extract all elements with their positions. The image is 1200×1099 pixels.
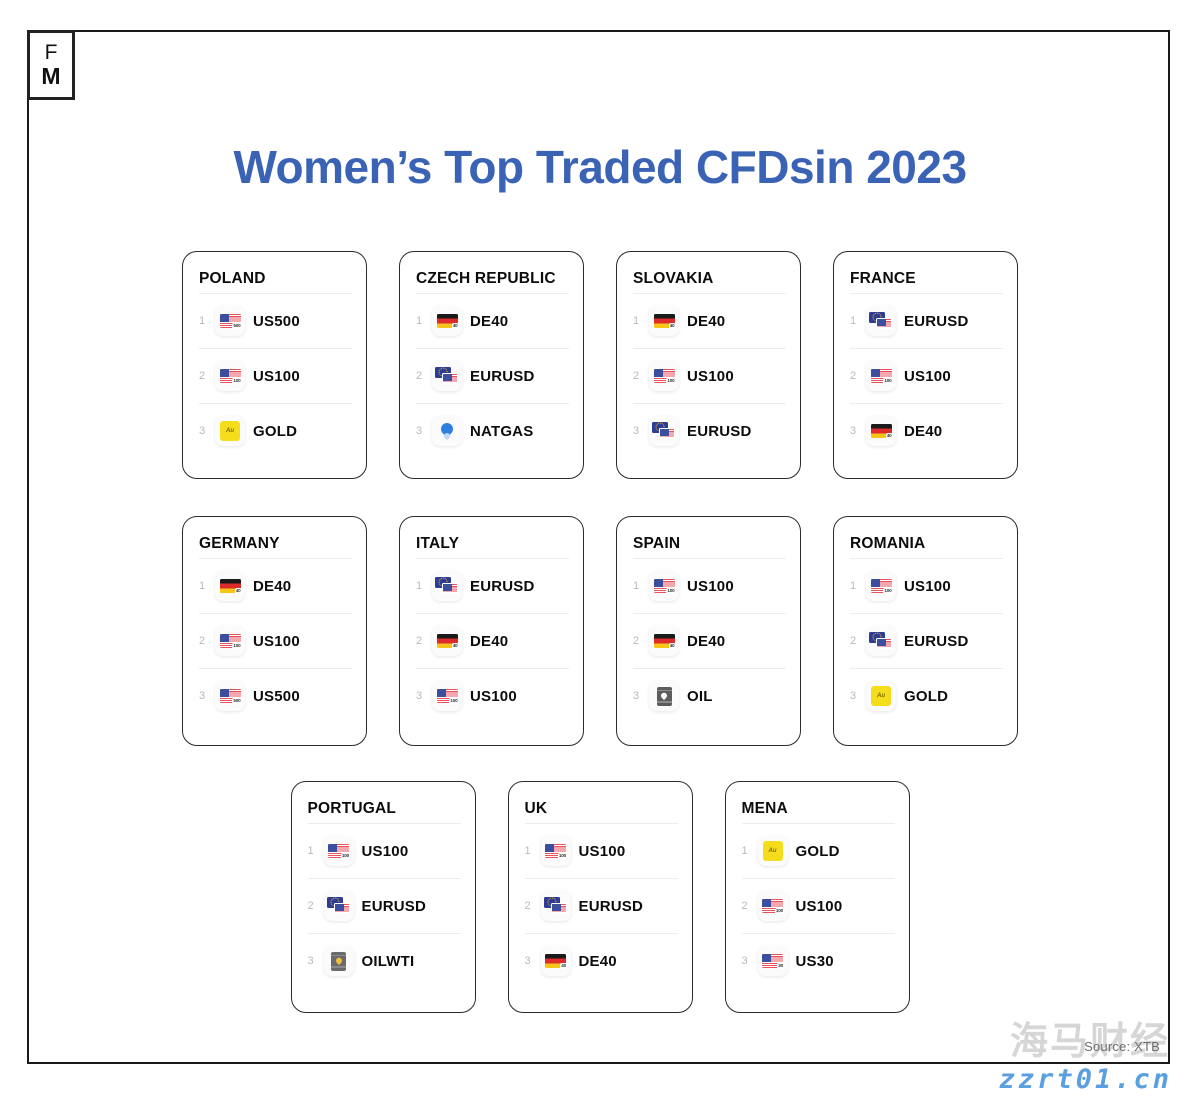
instrument-row[interactable]: 1500US500 — [199, 293, 352, 348]
country-card[interactable]: UK1100US1002EURUSD340DE40 — [508, 781, 693, 1013]
instrument-row[interactable]: 330US30 — [742, 933, 895, 988]
instrument-row[interactable]: 240DE40 — [633, 613, 786, 668]
country-card[interactable]: FRANCE1EURUSD2100US100340DE40 — [833, 251, 1018, 479]
instrument-list: 1100US1002EURUSD340DE40 — [525, 823, 678, 988]
icon-badge: 100 — [341, 853, 350, 859]
instrument-symbol: DE40 — [253, 578, 291, 595]
rank-number: 1 — [633, 315, 649, 327]
instrument-row[interactable]: 3OILWTI — [308, 933, 461, 988]
instrument-list: 1500US5002100US1003AuGOLD — [199, 293, 352, 458]
us-flag-500-icon: 500 — [215, 681, 245, 711]
icon-badge: 100 — [232, 378, 241, 384]
instrument-row[interactable]: 1EURUSD — [850, 293, 1003, 348]
instrument-symbol: DE40 — [470, 313, 508, 330]
rank-number: 1 — [850, 580, 866, 592]
instrument-row[interactable]: 3EURUSD — [633, 403, 786, 458]
card-row-3: PORTUGAL1100US1002EURUSD3OILWTIUK1100US1… — [0, 781, 1200, 1013]
rank-number: 3 — [416, 425, 432, 437]
instrument-symbol: US100 — [253, 368, 300, 385]
instrument-row[interactable]: 340DE40 — [850, 403, 1003, 458]
eur-usd-flags-icon — [866, 306, 896, 336]
logo-letter-f: F — [45, 42, 58, 63]
card-title: ITALY — [416, 535, 569, 553]
icon-badge: 100 — [666, 588, 675, 594]
instrument-list: 1EURUSD240DE403100US100 — [416, 558, 569, 723]
instrument-row[interactable]: 2EURUSD — [525, 878, 678, 933]
card-title: POLAND — [199, 270, 352, 288]
icon-badge: 100 — [883, 588, 892, 594]
rank-number: 2 — [850, 635, 866, 647]
instrument-row[interactable]: 1100US100 — [850, 558, 1003, 613]
rank-number: 3 — [199, 425, 215, 437]
natgas-flame-icon — [432, 416, 462, 446]
de-flag-40-icon: 40 — [541, 946, 571, 976]
instrument-row[interactable]: 1100US100 — [308, 823, 461, 878]
rank-number: 2 — [742, 900, 758, 912]
instrument-row[interactable]: 3100US100 — [416, 668, 569, 723]
instrument-symbol: DE40 — [687, 633, 725, 650]
rank-number: 1 — [199, 315, 215, 327]
us-flag-100-icon: 100 — [324, 836, 354, 866]
gold-au-icon: Au — [758, 836, 788, 866]
instrument-symbol: GOLD — [796, 843, 840, 860]
icon-badge: 100 — [449, 698, 458, 704]
instrument-row[interactable]: 3NATGAS — [416, 403, 569, 458]
us-flag-100-icon: 100 — [541, 836, 571, 866]
de-flag-40-icon: 40 — [432, 626, 462, 656]
instrument-symbol: EURUSD — [904, 313, 969, 330]
instrument-list: 1100US1002EURUSD3OILWTI — [308, 823, 461, 988]
country-card[interactable]: CZECH REPUBLIC140DE402EURUSD3NATGAS — [399, 251, 584, 479]
instrument-list: 1EURUSD2100US100340DE40 — [850, 293, 1003, 458]
icon-badge: 40 — [452, 323, 459, 329]
de-flag-40-icon: 40 — [649, 626, 679, 656]
eur-usd-flags-icon — [541, 891, 571, 921]
us-flag-30-icon: 30 — [758, 946, 788, 976]
instrument-list: 1AuGOLD2100US100330US30 — [742, 823, 895, 988]
rank-number: 2 — [416, 635, 432, 647]
rank-number: 3 — [308, 955, 324, 967]
icon-badge: 500 — [232, 698, 241, 704]
rank-number: 3 — [199, 690, 215, 702]
instrument-row[interactable]: 2100US100 — [742, 878, 895, 933]
rank-number: 1 — [199, 580, 215, 592]
instrument-symbol: US100 — [796, 898, 843, 915]
instrument-symbol: NATGAS — [470, 423, 533, 440]
instrument-symbol: EURUSD — [362, 898, 427, 915]
us-flag-100-icon: 100 — [649, 361, 679, 391]
oil-wti-barrel-icon — [324, 946, 354, 976]
instrument-symbol: DE40 — [904, 423, 942, 440]
oil-barrel-icon — [649, 681, 679, 711]
instrument-symbol: EURUSD — [687, 423, 752, 440]
us-flag-100-icon: 100 — [758, 891, 788, 921]
instrument-symbol: EURUSD — [579, 898, 644, 915]
country-card[interactable]: PORTUGAL1100US1002EURUSD3OILWTI — [291, 781, 476, 1013]
watermark-url: zzrt01.cn — [999, 1064, 1172, 1095]
rank-number: 2 — [633, 635, 649, 647]
fm-logo: F M — [27, 30, 75, 100]
instrument-symbol: US100 — [579, 843, 626, 860]
us-flag-100-icon: 100 — [649, 571, 679, 601]
rank-number: 2 — [199, 635, 215, 647]
icon-badge: 30 — [777, 963, 784, 969]
instrument-row[interactable]: 2EURUSD — [416, 348, 569, 403]
instrument-row[interactable]: 140DE40 — [416, 293, 569, 348]
instrument-row[interactable]: 2EURUSD — [850, 613, 1003, 668]
rank-number: 3 — [525, 955, 541, 967]
eur-usd-flags-icon — [649, 416, 679, 446]
instrument-list: 140DE402100US1003EURUSD — [633, 293, 786, 458]
instrument-list: 140DE402EURUSD3NATGAS — [416, 293, 569, 458]
us-flag-500-icon: 500 — [215, 306, 245, 336]
card-title: MENA — [742, 800, 895, 818]
instrument-symbol: US30 — [796, 953, 834, 970]
country-card[interactable]: ITALY1EURUSD240DE403100US100 — [399, 516, 584, 746]
watermark-chinese: 海马财经 — [1010, 1010, 1170, 1065]
gold-symbol-au: Au — [763, 841, 783, 861]
country-card[interactable]: SLOVAKIA140DE402100US1003EURUSD — [616, 251, 801, 479]
rank-number: 1 — [742, 845, 758, 857]
country-card[interactable]: SPAIN1100US100240DE403OIL — [616, 516, 801, 746]
rank-number: 3 — [633, 425, 649, 437]
rank-number: 3 — [850, 690, 866, 702]
instrument-row[interactable]: 1100US100 — [633, 558, 786, 613]
instrument-symbol: US100 — [253, 633, 300, 650]
card-title: SPAIN — [633, 535, 786, 553]
us-flag-100-icon: 100 — [432, 681, 462, 711]
instrument-row[interactable]: 2100US100 — [633, 348, 786, 403]
rank-number: 3 — [633, 690, 649, 702]
country-card[interactable]: GERMANY140DE402100US1003500US500 — [182, 516, 367, 746]
card-row-2: GERMANY140DE402100US1003500US500ITALY1EU… — [0, 516, 1200, 746]
card-title: PORTUGAL — [308, 800, 461, 818]
instrument-row[interactable]: 1AuGOLD — [742, 823, 895, 878]
de-flag-40-icon: 40 — [866, 416, 896, 446]
rank-number: 3 — [850, 425, 866, 437]
card-title: FRANCE — [850, 270, 1003, 288]
icon-badge: 40 — [886, 433, 893, 439]
instrument-row[interactable]: 3AuGOLD — [199, 403, 352, 458]
instrument-row[interactable]: 1EURUSD — [416, 558, 569, 613]
rank-number: 3 — [416, 690, 432, 702]
country-card[interactable]: MENA1AuGOLD2100US100330US30 — [725, 781, 910, 1013]
icon-badge: 100 — [232, 643, 241, 649]
card-title: CZECH REPUBLIC — [416, 270, 569, 288]
instrument-symbol: US100 — [362, 843, 409, 860]
rank-number: 2 — [633, 370, 649, 382]
icon-badge: 100 — [666, 378, 675, 384]
card-title: GERMANY — [199, 535, 352, 553]
instrument-symbol: OILWTI — [362, 953, 415, 970]
gold-symbol-au: Au — [220, 421, 240, 441]
instrument-symbol: DE40 — [470, 633, 508, 650]
rank-number: 1 — [416, 580, 432, 592]
card-row-1: POLAND1500US5002100US1003AuGOLDCZECH REP… — [0, 251, 1200, 479]
eur-usd-flags-icon — [866, 626, 896, 656]
instrument-symbol: US500 — [253, 313, 300, 330]
instrument-row[interactable]: 340DE40 — [525, 933, 678, 988]
instrument-row[interactable]: 140DE40 — [199, 558, 352, 613]
instrument-row[interactable]: 3500US500 — [199, 668, 352, 723]
country-card[interactable]: POLAND1500US5002100US1003AuGOLD — [182, 251, 367, 479]
us-flag-100-icon: 100 — [866, 361, 896, 391]
logo-letter-m: M — [41, 65, 60, 88]
rank-number: 2 — [525, 900, 541, 912]
instrument-row[interactable]: 2100US100 — [850, 348, 1003, 403]
instrument-row[interactable]: 3AuGOLD — [850, 668, 1003, 723]
instrument-symbol: US100 — [904, 368, 951, 385]
us-flag-100-icon: 100 — [215, 626, 245, 656]
source-label: Source: XTB — [1084, 1039, 1160, 1054]
icon-badge: 40 — [669, 323, 676, 329]
instrument-symbol: US100 — [687, 368, 734, 385]
icon-badge: 100 — [558, 853, 567, 859]
eur-usd-flags-icon — [324, 891, 354, 921]
de-flag-40-icon: 40 — [432, 306, 462, 336]
icon-badge: 40 — [452, 643, 459, 649]
rank-number: 2 — [850, 370, 866, 382]
instrument-row[interactable]: 3OIL — [633, 668, 786, 723]
page-title: Women’s Top Traded CFDsin 2023 — [0, 140, 1200, 194]
icon-badge: 100 — [883, 378, 892, 384]
instrument-row[interactable]: 2EURUSD — [308, 878, 461, 933]
instrument-symbol: US100 — [470, 688, 517, 705]
us-flag-100-icon: 100 — [215, 361, 245, 391]
instrument-symbol: GOLD — [904, 688, 948, 705]
gold-symbol-au: Au — [871, 686, 891, 706]
rank-number: 3 — [742, 955, 758, 967]
de-flag-40-icon: 40 — [649, 306, 679, 336]
rank-number: 1 — [308, 845, 324, 857]
icon-badge: 40 — [669, 643, 676, 649]
rank-number: 2 — [199, 370, 215, 382]
card-title: UK — [525, 800, 678, 818]
instrument-symbol: US100 — [687, 578, 734, 595]
instrument-list: 1100US1002EURUSD3AuGOLD — [850, 558, 1003, 723]
instrument-symbol: US100 — [904, 578, 951, 595]
instrument-list: 1100US100240DE403OIL — [633, 558, 786, 723]
instrument-symbol: US500 — [253, 688, 300, 705]
rank-number: 2 — [416, 370, 432, 382]
eur-usd-flags-icon — [432, 361, 462, 391]
rank-number: 1 — [525, 845, 541, 857]
icon-badge: 40 — [235, 588, 242, 594]
card-title: ROMANIA — [850, 535, 1003, 553]
card-title: SLOVAKIA — [633, 270, 786, 288]
instrument-symbol: DE40 — [579, 953, 617, 970]
instrument-row[interactable]: 2100US100 — [199, 348, 352, 403]
instrument-symbol: EURUSD — [904, 633, 969, 650]
instrument-symbol: OIL — [687, 688, 713, 705]
instrument-row[interactable]: 140DE40 — [633, 293, 786, 348]
instrument-symbol: GOLD — [253, 423, 297, 440]
rank-number: 2 — [308, 900, 324, 912]
icon-badge: 40 — [560, 963, 567, 969]
us-flag-100-icon: 100 — [866, 571, 896, 601]
icon-badge: 500 — [232, 323, 241, 329]
gold-au-icon: Au — [215, 416, 245, 446]
de-flag-40-icon: 40 — [215, 571, 245, 601]
instrument-symbol: EURUSD — [470, 368, 535, 385]
instrument-symbol: EURUSD — [470, 578, 535, 595]
instrument-row[interactable]: 2100US100 — [199, 613, 352, 668]
gold-au-icon: Au — [866, 681, 896, 711]
country-card[interactable]: ROMANIA1100US1002EURUSD3AuGOLD — [833, 516, 1018, 746]
instrument-list: 140DE402100US1003500US500 — [199, 558, 352, 723]
rank-number: 1 — [850, 315, 866, 327]
icon-badge: 100 — [775, 908, 784, 914]
instrument-symbol: DE40 — [687, 313, 725, 330]
instrument-row[interactable]: 240DE40 — [416, 613, 569, 668]
eur-usd-flags-icon — [432, 571, 462, 601]
rank-number: 1 — [416, 315, 432, 327]
rank-number: 1 — [633, 580, 649, 592]
instrument-row[interactable]: 1100US100 — [525, 823, 678, 878]
